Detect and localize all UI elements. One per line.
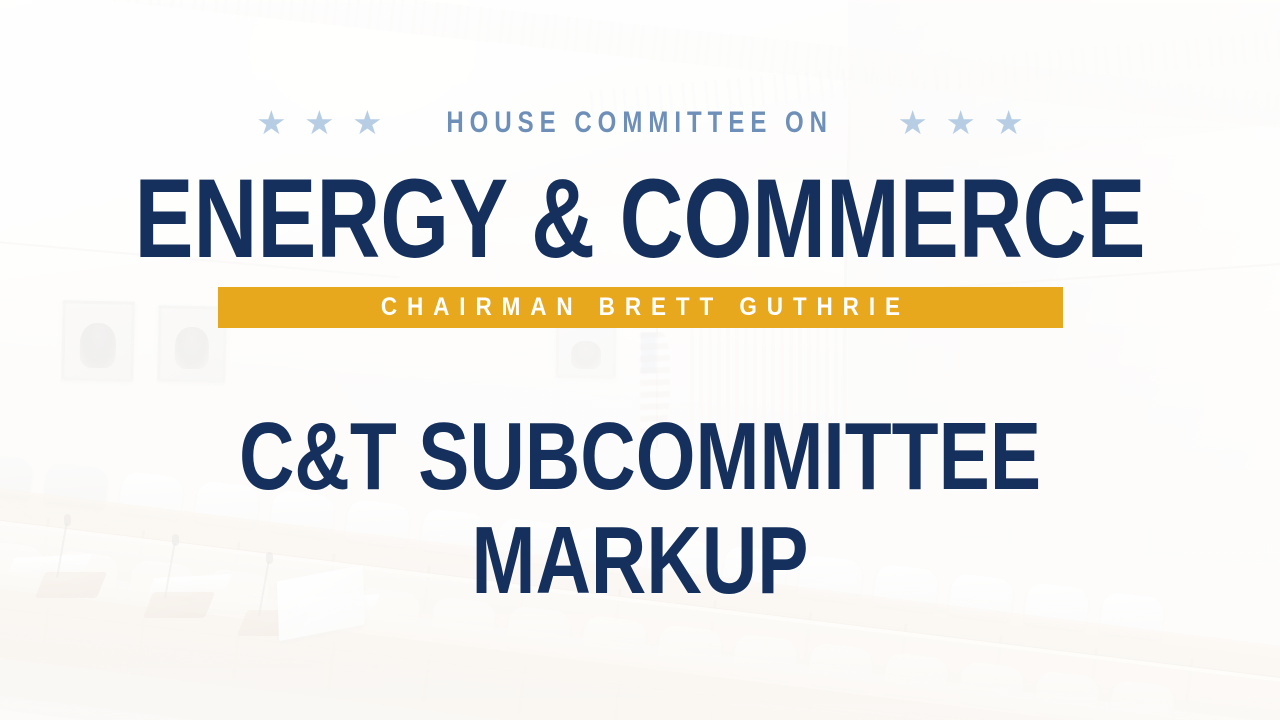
star-icon [354, 110, 380, 136]
committee-name: ENERGY & COMMERCE [134, 163, 1145, 275]
chairman-banner: CHAIRMAN BRETT GUTHRIE [218, 287, 1063, 328]
event-title: C&T SUBCOMMITTEE MARKUP [128, 410, 1152, 608]
broadcast-title-card: HOUSE COMMITTEE ON ENERGY & COMMERCE CHA… [0, 0, 1280, 720]
star-group-left [258, 110, 380, 136]
star-icon [258, 110, 284, 136]
eyebrow-label: HOUSE COMMITTEE ON [447, 108, 834, 138]
star-group-right [900, 110, 1022, 136]
star-icon [996, 110, 1022, 136]
eyebrow-row: HOUSE COMMITTEE ON [0, 108, 1280, 138]
event-title-line-2: MARKUP [128, 514, 1152, 608]
event-title-line-1: C&T SUBCOMMITTEE [239, 403, 1041, 510]
star-icon [306, 110, 332, 136]
star-icon [948, 110, 974, 136]
title-lockup: HOUSE COMMITTEE ON ENERGY & COMMERCE CHA… [0, 0, 1280, 720]
star-icon [900, 110, 926, 136]
chairman-banner-label: CHAIRMAN BRETT GUTHRIE [371, 295, 910, 320]
